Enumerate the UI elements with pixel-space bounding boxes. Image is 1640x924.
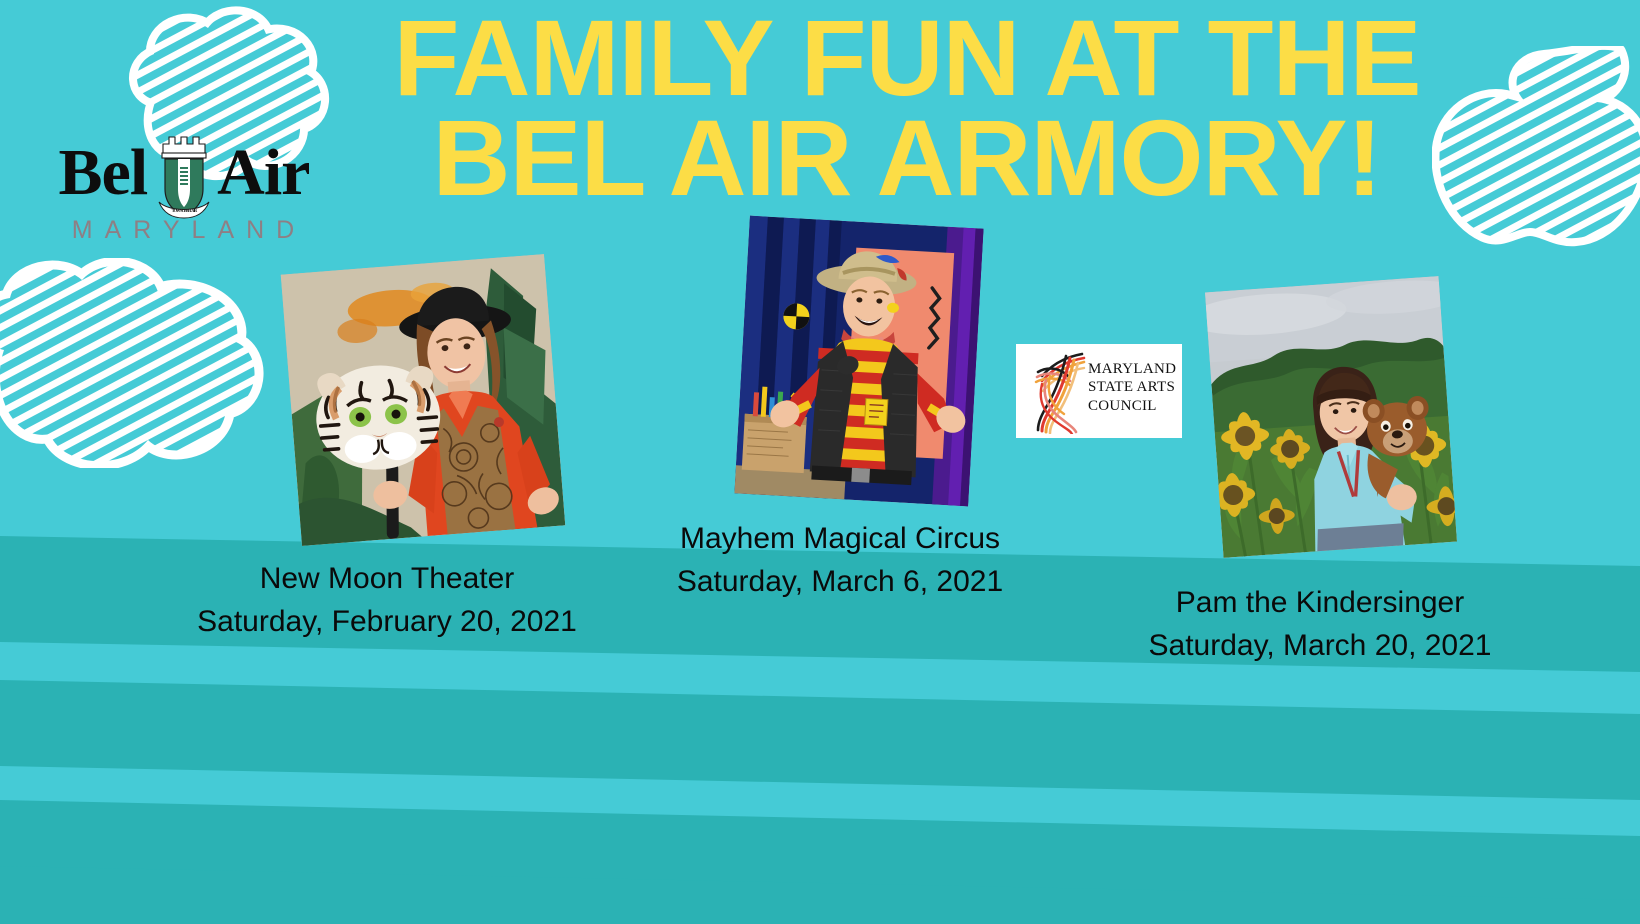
event-date-pam-the-kindersinger: Saturday, March 20, 2021 xyxy=(1070,625,1570,668)
striped-apple-right-icon xyxy=(1432,46,1640,256)
event-date-mayhem-magical-circus: Saturday, March 6, 2021 xyxy=(590,561,1090,604)
crest-motto: TOWN OF BEL AIR xyxy=(172,208,198,213)
msac-wordmark: Maryland State Arts Council xyxy=(1088,360,1176,415)
flyer-canvas: Bel Air xyxy=(0,0,1640,924)
event-name-mayhem-magical-circus: Mayhem Magical Circus xyxy=(590,518,1090,561)
msac-ribbon-icon xyxy=(1022,350,1090,434)
maryland-state-arts-council-logo: Maryland State Arts Council xyxy=(1016,344,1182,438)
logo-state-label: MARYLAND xyxy=(48,216,320,245)
event-name-pam-the-kindersinger: Pam the Kindersinger xyxy=(1070,582,1570,625)
msac-line3: Council xyxy=(1088,397,1176,415)
page-title-line1: FAMILY FUN AT THE xyxy=(352,8,1462,108)
event-caption-pam-the-kindersinger: Pam the Kindersinger Saturday, March 20,… xyxy=(1070,582,1570,667)
msac-line1: Maryland xyxy=(1088,360,1176,378)
event-caption-new-moon-theater: New Moon Theater Saturday, February 20, … xyxy=(112,558,662,643)
bel-air-wordmark: Bel Air xyxy=(48,134,320,212)
logo-word-air: Air xyxy=(217,140,309,206)
striped-cloud-mid-left-icon xyxy=(0,258,284,468)
event-date-new-moon-theater: Saturday, February 20, 2021 xyxy=(112,601,662,644)
event-name-new-moon-theater: New Moon Theater xyxy=(112,558,662,601)
event-photo-pam-the-kindersinger xyxy=(1205,276,1457,558)
bel-air-crest-icon: TOWN OF BEL AIR xyxy=(153,126,215,220)
bel-air-logo: Bel Air xyxy=(48,134,320,245)
page-title: FAMILY FUN AT THE BEL AIR ARMORY! xyxy=(352,8,1462,209)
logo-word-bel: Bel xyxy=(59,140,148,206)
page-title-line2: BEL AIR ARMORY! xyxy=(352,108,1462,208)
event-photo-mayhem-magical-circus xyxy=(734,216,983,507)
event-caption-mayhem-magical-circus: Mayhem Magical Circus Saturday, March 6,… xyxy=(590,518,1090,603)
msac-line2: State Arts xyxy=(1088,378,1176,396)
event-photo-new-moon-theater xyxy=(281,254,566,546)
